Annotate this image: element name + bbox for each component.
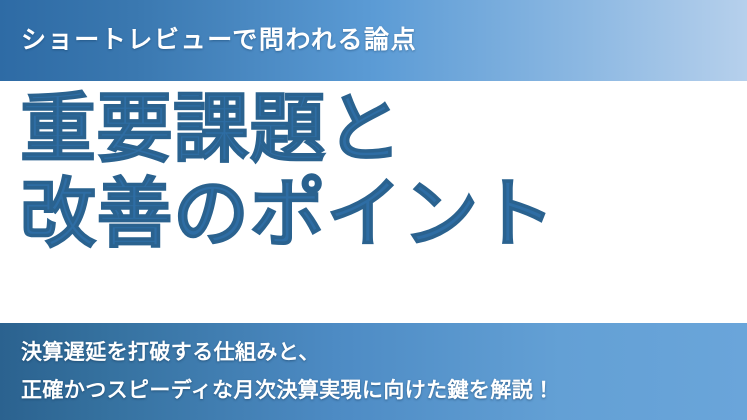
main-content-area: 重要課題と 改善のポイント bbox=[0, 81, 747, 323]
footer-subtitle-line-1: 決算遅延を打破する仕組みと、 bbox=[21, 342, 747, 363]
page-title-line-2: 改善のポイント bbox=[20, 172, 556, 257]
header-band: ショートレビューで問われる論点 bbox=[0, 0, 747, 81]
header-eyebrow-text: ショートレビューで問われる論点 bbox=[21, 28, 417, 53]
footer-band: 決算遅延を打破する仕組みと、 正確かつスピーディな月次決算実現に向けた鍵を解説！ bbox=[0, 323, 747, 420]
page-title-line-1: 重要課題と bbox=[20, 87, 556, 172]
title-slide: ショートレビューで問われる論点 重要課題と 改善のポイント 決算遅延を打破する仕… bbox=[0, 0, 747, 420]
page-title: 重要課題と 改善のポイント bbox=[20, 87, 556, 257]
footer-subtitle-line-2: 正確かつスピーディな月次決算実現に向けた鍵を解説！ bbox=[21, 380, 747, 401]
